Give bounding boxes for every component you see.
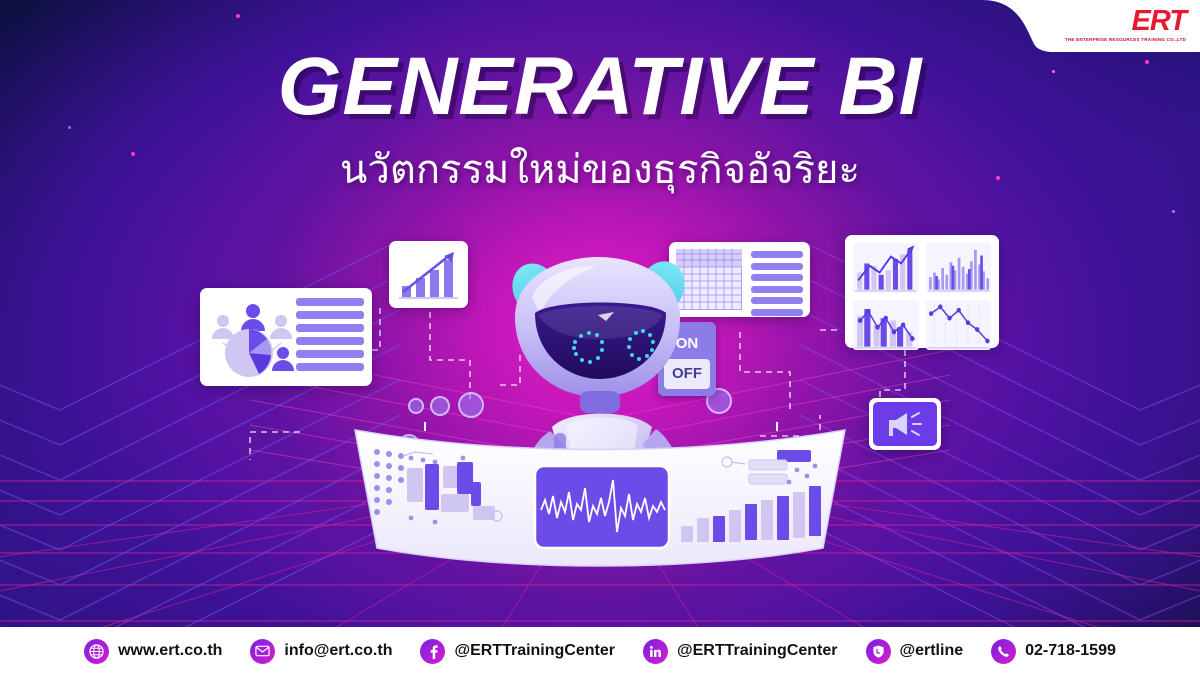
line-icon [866, 639, 891, 664]
contact-line[interactable]: @ertline [852, 639, 978, 664]
ert-logo-wordmark: ERT [1060, 7, 1186, 36]
contact-label: @ERTTrainingCenter [677, 642, 838, 660]
connector-node [430, 396, 450, 416]
page-subtitle: นวัตกรรมใหม่ของธุรกิจอัจริยะ [0, 146, 1200, 194]
growth-bar-chart [396, 248, 461, 301]
text-line [751, 263, 803, 270]
facebook-icon [420, 639, 445, 664]
footer-contact-bar: www.ert.co.th info@ert.co.th @ERTTrainin… [0, 627, 1200, 675]
hero-illustration: ON OFF [0, 200, 1200, 600]
ert-logo: ERT THE ENTERPRISE RESOURCES TRAINING CO… [1060, 7, 1186, 41]
contact-label: @ERTTrainingCenter [454, 642, 615, 660]
console-tick [424, 422, 426, 431]
megaphone-card[interactable] [869, 398, 941, 450]
robot-neck [580, 391, 620, 413]
text-line [296, 337, 364, 345]
text-line [751, 286, 803, 293]
growth-bar-card[interactable] [389, 241, 468, 308]
email-icon [250, 639, 275, 664]
contact-label: @ertline [900, 642, 964, 660]
audience-pie-card[interactable] [200, 288, 372, 386]
text-line [296, 311, 364, 319]
sparkle-dot [236, 14, 240, 18]
phone-icon [991, 639, 1016, 664]
text-line [751, 274, 803, 281]
globe-icon [84, 639, 109, 664]
text-line [751, 309, 803, 316]
page-title: GENERATIVE BI [0, 46, 1200, 128]
linkedin-icon [643, 639, 668, 664]
contact-label: 02-718-1599 [1025, 642, 1116, 660]
ert-logo-tagline: THE ENTERPRISE RESOURCES TRAINING CO.,LT… [1060, 37, 1186, 42]
contact-website[interactable]: www.ert.co.th [70, 639, 236, 664]
poster-canvas: ERT THE ENTERPRISE RESOURCES TRAINING CO… [0, 0, 1200, 675]
text-line [296, 298, 364, 306]
connector-node [408, 398, 424, 414]
contact-linkedin[interactable]: @ERTTrainingCenter [629, 639, 852, 664]
megaphone-icon [885, 409, 925, 439]
contact-label: info@ert.co.th [284, 642, 392, 660]
curved-dashboard[interactable] [345, 422, 855, 572]
text-line [296, 363, 364, 371]
panel-line-trend-chart [926, 300, 992, 350]
panel-combo-chart [853, 243, 919, 293]
analytics-grid-card[interactable] [845, 235, 999, 348]
contact-facebook[interactable]: @ERTTrainingCenter [406, 639, 629, 664]
text-line [751, 297, 803, 304]
contact-label: www.ert.co.th [118, 642, 222, 660]
panel-bar-scatter-chart [853, 300, 919, 350]
contact-phone[interactable]: 02-718-1599 [977, 639, 1130, 664]
console-tick [776, 422, 778, 431]
brand-logo-plate: ERT THE ENTERPRISE RESOURCES TRAINING CO… [982, 0, 1200, 52]
text-line [296, 324, 364, 332]
panel-histogram [926, 243, 992, 293]
contact-email[interactable]: info@ert.co.th [236, 639, 406, 664]
text-line [751, 251, 803, 258]
text-line [296, 350, 364, 358]
